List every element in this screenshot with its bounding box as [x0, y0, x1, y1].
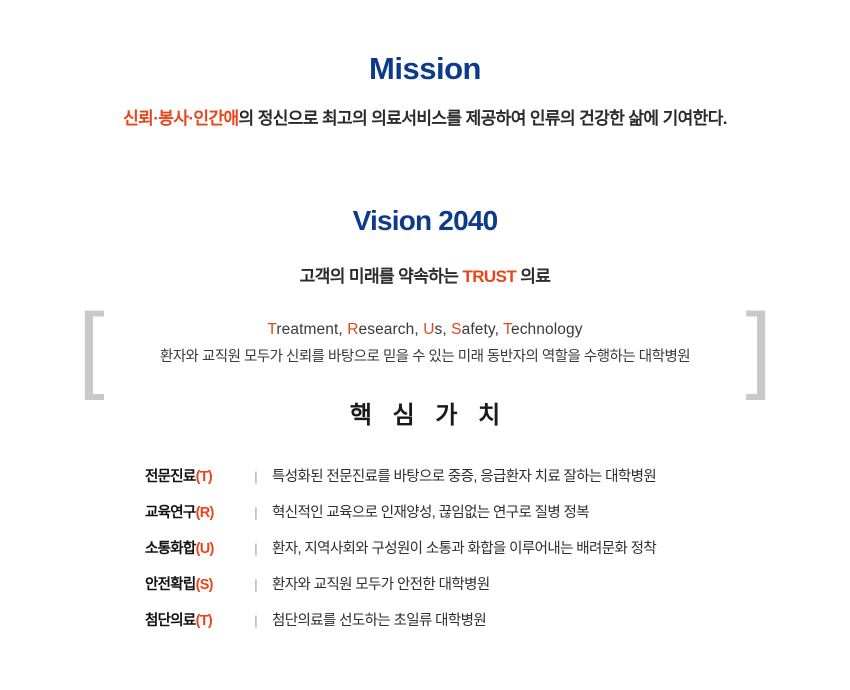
core-value-description: 특성화된 전문진료를 바탕으로 중증, 응급환자 치료 잘하는 대학병원: [272, 465, 656, 486]
vision-mission-page: Mission 신뢰·봉사·인간애의 정신으로 최고의 의료서비스를 제공하여 …: [0, 0, 850, 690]
core-value-row: 첨단의료(T)|첨단의료를 선도하는 초일류 대학병원: [0, 609, 850, 645]
trust-keyword-rest: afety: [462, 321, 495, 338]
core-value-description: 환자, 지역사회와 구성원이 소통과 화합을 이루어내는 배려문화 정착: [272, 537, 656, 558]
vision-section: Vision 2040 고객의 미래를 약속하는 TRUST 의료: [0, 206, 850, 304]
mission-statement-rest: 의 정신으로 최고의 의료서비스를 제공하여 인류의 건강한 삶에 기여한다.: [239, 109, 727, 128]
core-value-separator: |: [240, 505, 272, 520]
core-value-row: 전문진료(T)|특성화된 전문진료를 바탕으로 중증, 응급환자 치료 잘하는 …: [0, 465, 850, 501]
core-value-key-label: 교육연구: [145, 505, 196, 521]
core-value-separator: |: [240, 613, 272, 628]
trust-bracket-block: [ ] Treatment, Research, Us, Safety, Tec…: [0, 300, 850, 395]
mission-statement-accent: 신뢰·봉사·인간애: [123, 109, 238, 128]
core-value-key-tag: (U): [196, 541, 214, 557]
trust-keyword-separator: ,: [338, 321, 347, 338]
trust-keywords: Treatment, Research, Us, Safety, Technol…: [130, 320, 720, 341]
core-values-heading: 핵 심 가 치: [0, 402, 850, 431]
core-value-key-tag: (S): [196, 577, 213, 593]
core-value-key-tag: (R): [196, 505, 214, 521]
trust-keyword-initial: S: [451, 321, 461, 338]
core-value-description: 혁신적인 교육으로 인재양성, 끊임없는 연구로 질병 정복: [272, 501, 589, 522]
trust-keyword: Us: [423, 321, 442, 338]
trust-keyword-rest: echnology: [511, 321, 583, 338]
core-value-key: 안전확립(S): [145, 573, 240, 594]
trust-keyword-separator: ,: [414, 321, 423, 338]
trust-keyword: Research: [347, 321, 414, 338]
mission-heading: Mission: [0, 52, 850, 86]
core-value-key: 교육연구(R): [145, 501, 240, 522]
trust-keyword-separator: ,: [442, 321, 451, 338]
core-value-key: 전문진료(T): [145, 465, 240, 486]
trust-keyword: Safety: [451, 321, 494, 338]
trust-keyword-separator: ,: [495, 321, 504, 338]
left-bracket-icon: [: [78, 300, 105, 395]
core-value-separator: |: [240, 469, 272, 484]
core-value-key-tag: (T): [196, 469, 212, 485]
core-values-list: 전문진료(T)|특성화된 전문진료를 바탕으로 중증, 응급환자 치료 잘하는 …: [0, 465, 850, 645]
trust-keyword-initial: U: [423, 321, 434, 338]
core-values-section: 핵 심 가 치 전문진료(T)|특성화된 전문진료를 바탕으로 중증, 응급환자…: [0, 402, 850, 645]
trust-keyword: Technology: [503, 321, 582, 338]
trust-keyword-rest: reatment: [276, 321, 338, 338]
vision-subtitle-after: 의료: [516, 267, 550, 286]
core-value-key-tag: (T): [196, 613, 212, 629]
core-value-key-label: 첨단의료: [145, 613, 196, 629]
trust-description: 환자와 교직원 모두가 신뢰를 바탕으로 믿을 수 있는 미래 동반자의 역할을…: [130, 347, 720, 367]
trust-keyword-initial: T: [503, 321, 511, 338]
trust-keyword: Treatment: [267, 321, 338, 338]
core-value-row: 소통화합(U)|환자, 지역사회와 구성원이 소통과 화합을 이루어내는 배려문…: [0, 537, 850, 573]
vision-subtitle-accent: TRUST: [462, 267, 516, 286]
core-value-separator: |: [240, 577, 272, 592]
core-value-key: 첨단의료(T): [145, 609, 240, 630]
vision-subtitle: 고객의 미래를 약속하는 TRUST 의료: [0, 262, 850, 287]
core-value-row: 교육연구(R)|혁신적인 교육으로 인재양성, 끊임없는 연구로 질병 정복: [0, 501, 850, 537]
core-value-separator: |: [240, 541, 272, 556]
trust-keyword-initial: R: [347, 321, 358, 338]
vision-heading: Vision 2040: [0, 206, 850, 237]
core-value-description: 첨단의료를 선도하는 초일류 대학병원: [272, 609, 486, 630]
core-value-description: 환자와 교직원 모두가 안전한 대학병원: [272, 573, 490, 594]
core-value-key-label: 소통화합: [145, 541, 196, 557]
core-value-row: 안전확립(S)|환자와 교직원 모두가 안전한 대학병원: [0, 573, 850, 609]
mission-section: Mission 신뢰·봉사·인간애의 정신으로 최고의 의료서비스를 제공하여 …: [0, 52, 850, 148]
core-value-key: 소통화합(U): [145, 537, 240, 558]
core-value-key-label: 전문진료: [145, 469, 196, 485]
right-bracket-icon: ]: [745, 300, 772, 395]
vision-subtitle-before: 고객의 미래를 약속하는: [300, 267, 463, 286]
mission-statement: 신뢰·봉사·인간애의 정신으로 최고의 의료서비스를 제공하여 인류의 건강한 …: [0, 107, 850, 131]
trust-inner: Treatment, Research, Us, Safety, Technol…: [130, 320, 720, 367]
core-value-key-label: 안전확립: [145, 577, 196, 593]
trust-keyword-rest: esearch: [359, 321, 415, 338]
